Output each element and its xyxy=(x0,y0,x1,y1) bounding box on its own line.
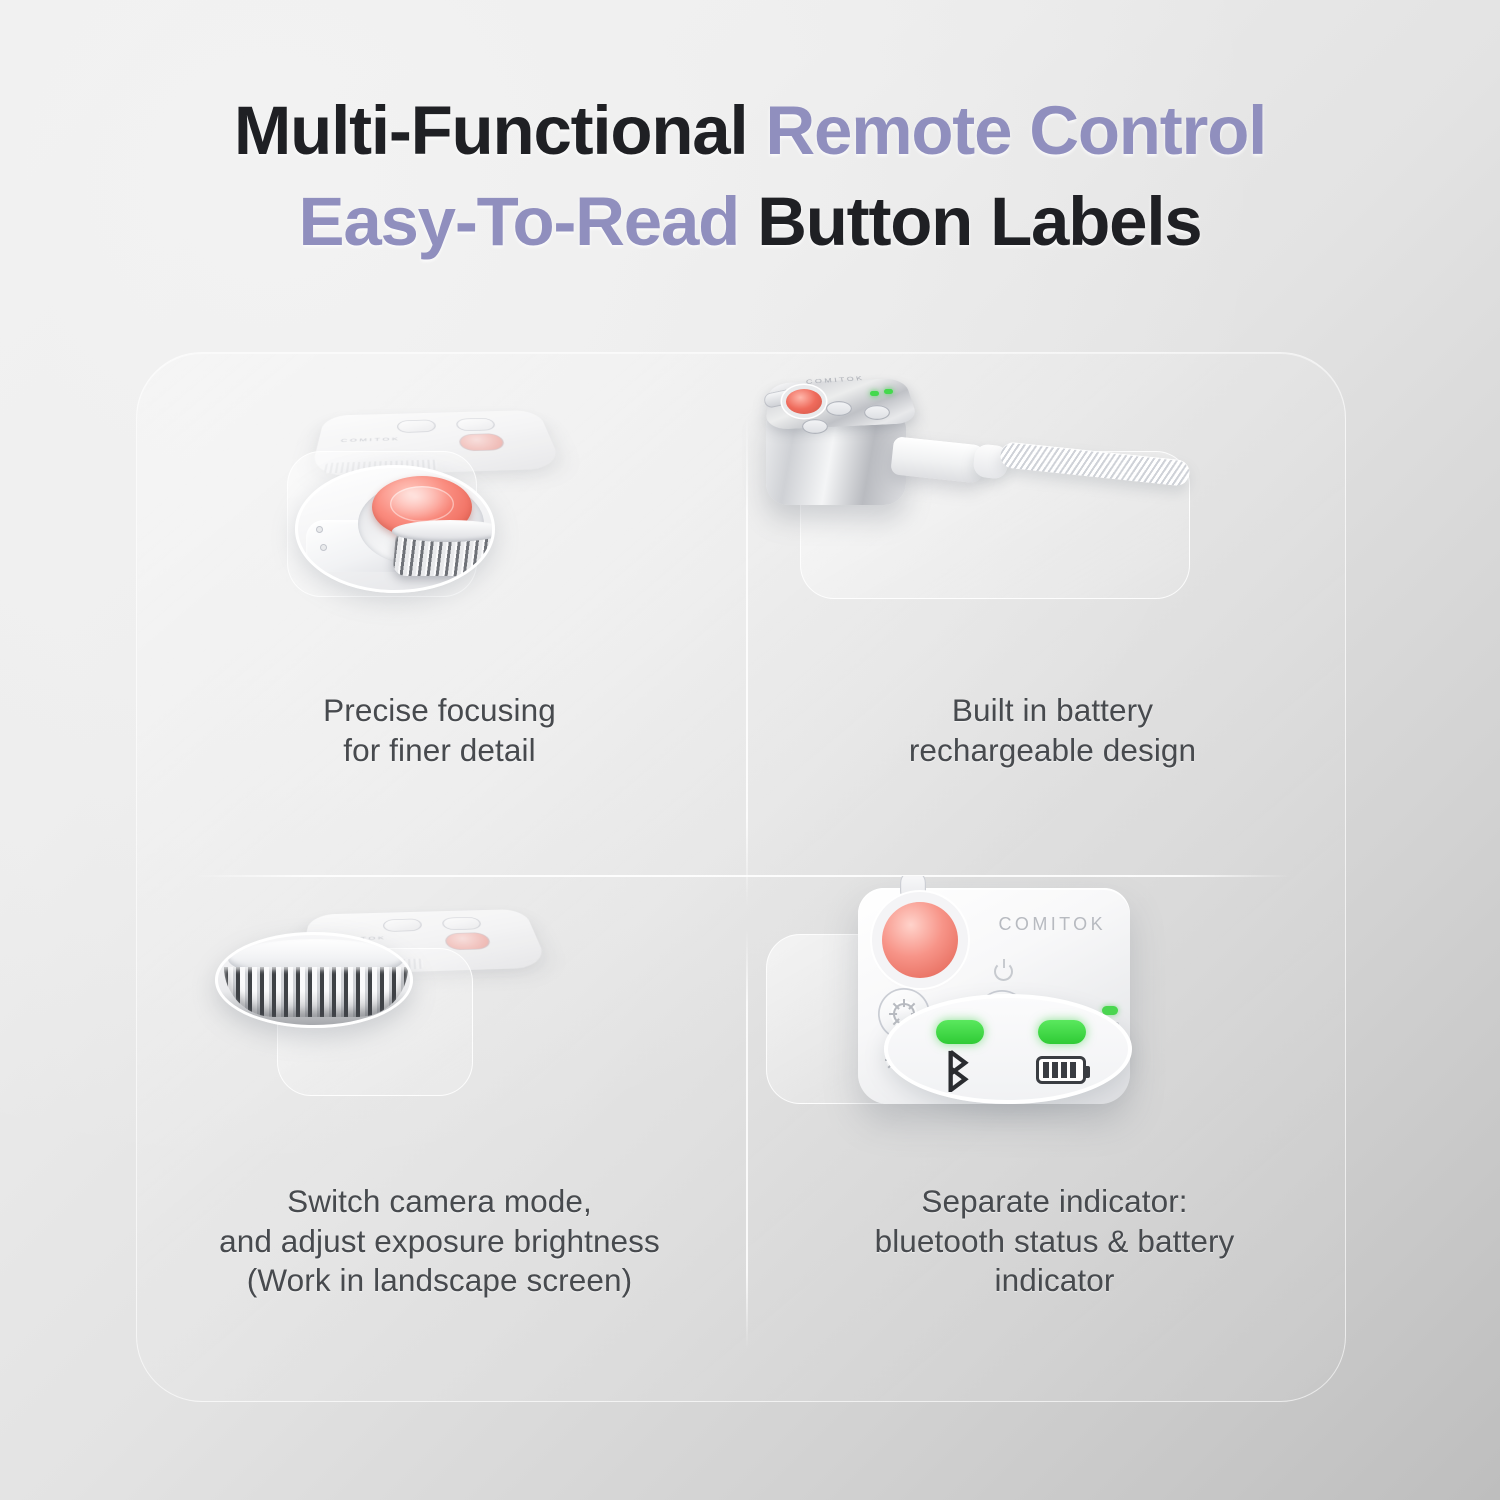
ghost-button-1 xyxy=(397,419,436,432)
precise-focusing-artwork: COMITOK xyxy=(137,353,742,683)
caption-line: bluetooth status & battery xyxy=(752,1222,1357,1262)
caption-built-in-battery: Built in battery rechargeable design xyxy=(750,691,1355,770)
power-button-icon xyxy=(864,405,890,420)
caption-line: Separate indicator: xyxy=(752,1182,1357,1222)
bluetooth-icon xyxy=(940,1050,974,1092)
caption-line: for finer detail xyxy=(137,731,742,771)
caption-line: and adjust exposure brightness xyxy=(137,1222,742,1262)
ghost-brand-label: COMITOK xyxy=(340,437,400,443)
device-brand-label: COMITOK xyxy=(999,914,1106,935)
battery-icon xyxy=(1036,1056,1086,1084)
feature-panel-built-in-battery: COMITOK Built in battery rechargeable de… xyxy=(742,353,1347,876)
focus-macro-oval xyxy=(295,465,495,593)
feature-panel-precise-focusing: COMITOK Precise focusing for finer detai… xyxy=(137,353,742,876)
bluetooth-led-icon xyxy=(936,1020,984,1044)
caption-precise-focusing: Precise focusing for finer detail xyxy=(137,691,742,770)
caption-switch-camera-mode: Switch camera mode, and adjust exposure … xyxy=(137,1182,742,1301)
caption-line: Precise focusing xyxy=(137,691,742,731)
ghost-button-2 xyxy=(442,917,483,930)
lanyard-lug xyxy=(900,876,926,904)
shutter-button-icon xyxy=(882,902,958,978)
power-icon xyxy=(994,962,1013,981)
led-indicator-icon xyxy=(884,389,893,394)
title-line-1: Multi-Functional Remote Control xyxy=(0,96,1500,165)
ghost-shutter-button xyxy=(458,433,506,451)
focus-ring-icon xyxy=(392,532,495,576)
knurled-dial-icon xyxy=(215,932,413,1028)
caption-line: Built in battery xyxy=(750,691,1355,731)
ghost-shutter-button xyxy=(444,932,492,950)
switch-camera-mode-artwork: COMITOK xyxy=(137,876,742,1206)
separate-indicator-artwork: COMITOK xyxy=(742,876,1347,1206)
ghost-button-1 xyxy=(383,918,422,931)
ghost-button-2 xyxy=(456,418,497,431)
title-line-2-accent: Easy-To-Read xyxy=(299,183,740,260)
mode-dot-icon xyxy=(320,544,327,551)
title-line-2: Easy-To-Read Button Labels xyxy=(0,187,1500,256)
title-line-1-dark: Multi-Functional xyxy=(234,92,748,169)
caption-separate-indicator: Separate indicator: bluetooth status & b… xyxy=(752,1182,1357,1301)
remote-device-body: COMITOK xyxy=(762,365,914,505)
battery-led-icon xyxy=(1038,1020,1086,1044)
dial-shadow xyxy=(218,991,413,1028)
caption-line: Switch camera mode, xyxy=(137,1182,742,1222)
feature-panel-separate-indicator: COMITOK xyxy=(742,876,1347,1399)
led-indicator-icon xyxy=(870,391,879,396)
mode-dot-icon xyxy=(316,526,323,533)
caption-line: indicator xyxy=(752,1261,1357,1301)
shutter-button-icon xyxy=(786,389,822,414)
built-in-battery-artwork: COMITOK xyxy=(742,353,1347,683)
title-line-2-dark: Button Labels xyxy=(757,183,1201,260)
feature-grid-card: COMITOK Precise focusing for finer detai… xyxy=(136,352,1346,1402)
brightness-button-icon xyxy=(802,419,828,434)
feature-panel-switch-camera-mode: COMITOK Switch camera mode, and adjust e… xyxy=(137,876,742,1399)
indicator-callout-oval xyxy=(884,994,1132,1104)
page-title: Multi-Functional Remote Control Easy-To-… xyxy=(0,96,1500,256)
caption-line: rechargeable design xyxy=(750,731,1355,771)
mode-button-icon xyxy=(826,401,852,416)
infographic-canvas: Multi-Functional Remote Control Easy-To-… xyxy=(0,0,1500,1500)
title-line-1-accent: Remote Control xyxy=(765,92,1266,169)
caption-line: (Work in landscape screen) xyxy=(137,1261,742,1301)
